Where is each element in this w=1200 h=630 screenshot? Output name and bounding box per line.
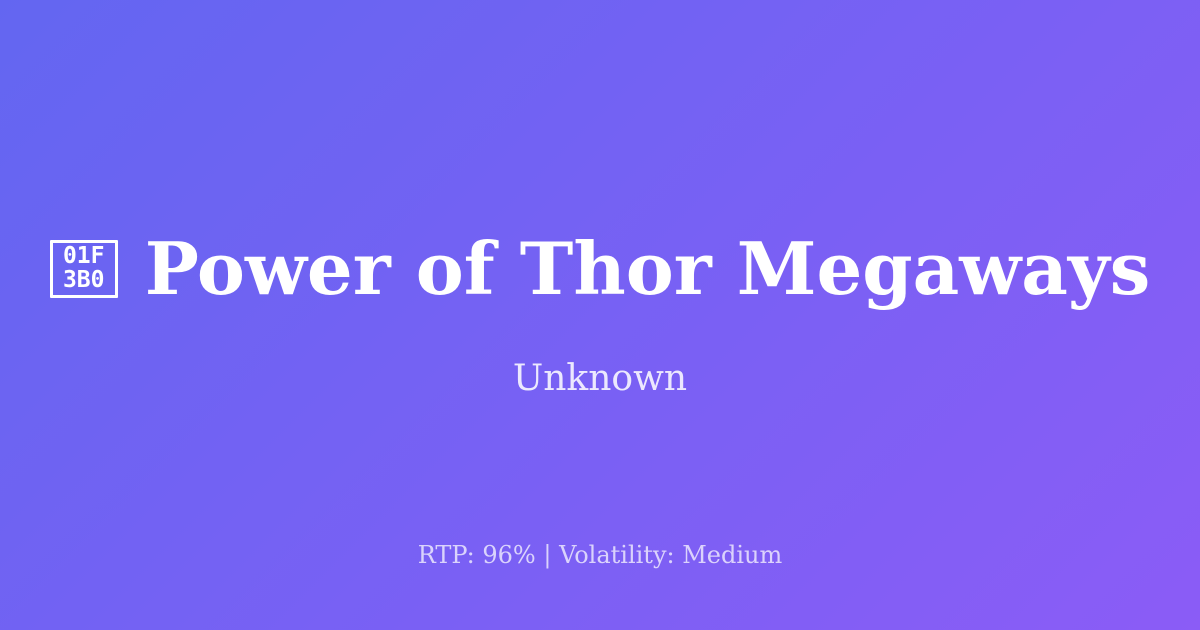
tofu-hex-bottom: 3B0 [63,269,105,293]
tofu-hex-top: 01F [63,245,105,269]
og-share-card: 01F 3B0 Power of Thor Megaways Unknown R… [0,0,1200,630]
page-title: Power of Thor Megaways [145,231,1151,307]
title-row: 01F 3B0 Power of Thor Megaways [0,231,1200,307]
provider-subtitle: Unknown [513,359,687,399]
game-stats-footer: RTP: 96% | Volatility: Medium [0,542,1200,568]
slot-machine-icon: 01F 3B0 [50,240,118,298]
